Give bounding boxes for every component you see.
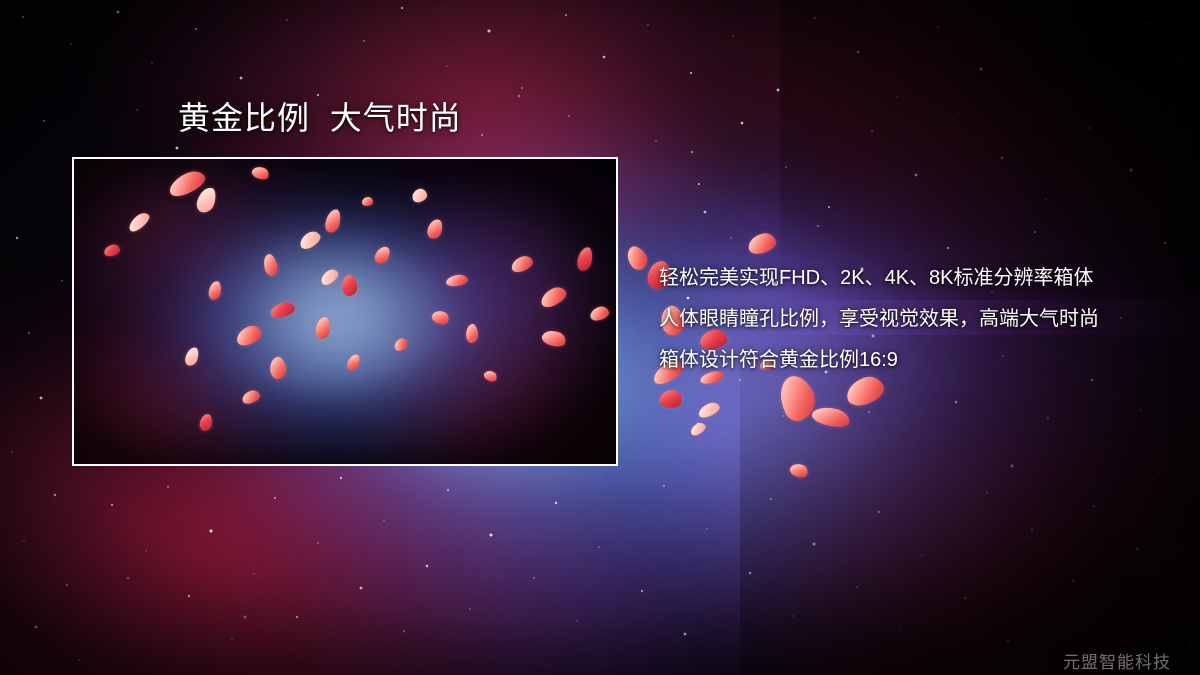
panel-vignette	[74, 159, 616, 464]
body-copy: 轻松完美实现FHD、2K、4K、8K标准分辨率箱体 人体眼睛瞳孔比例，享受视觉效…	[659, 258, 1139, 381]
slide-canvas: 黄金比例 大气时尚 轻松完美实现FHD、2K、4K、8K标准分辨率箱体 人体眼睛…	[0, 0, 1200, 675]
watermark: 元盟智能科技	[1063, 648, 1171, 673]
body-line-1: 轻松完美实现FHD、2K、4K、8K标准分辨率箱体	[659, 258, 1139, 299]
page-title: 黄金比例 大气时尚	[178, 101, 462, 136]
body-line-3: 箱体设计符合黄金比例16:9	[659, 340, 1139, 381]
body-line-2: 人体眼睛瞳孔比例，享受视觉效果，高端大气时尚	[659, 299, 1139, 340]
framed-image-panel[interactable]	[72, 157, 618, 466]
